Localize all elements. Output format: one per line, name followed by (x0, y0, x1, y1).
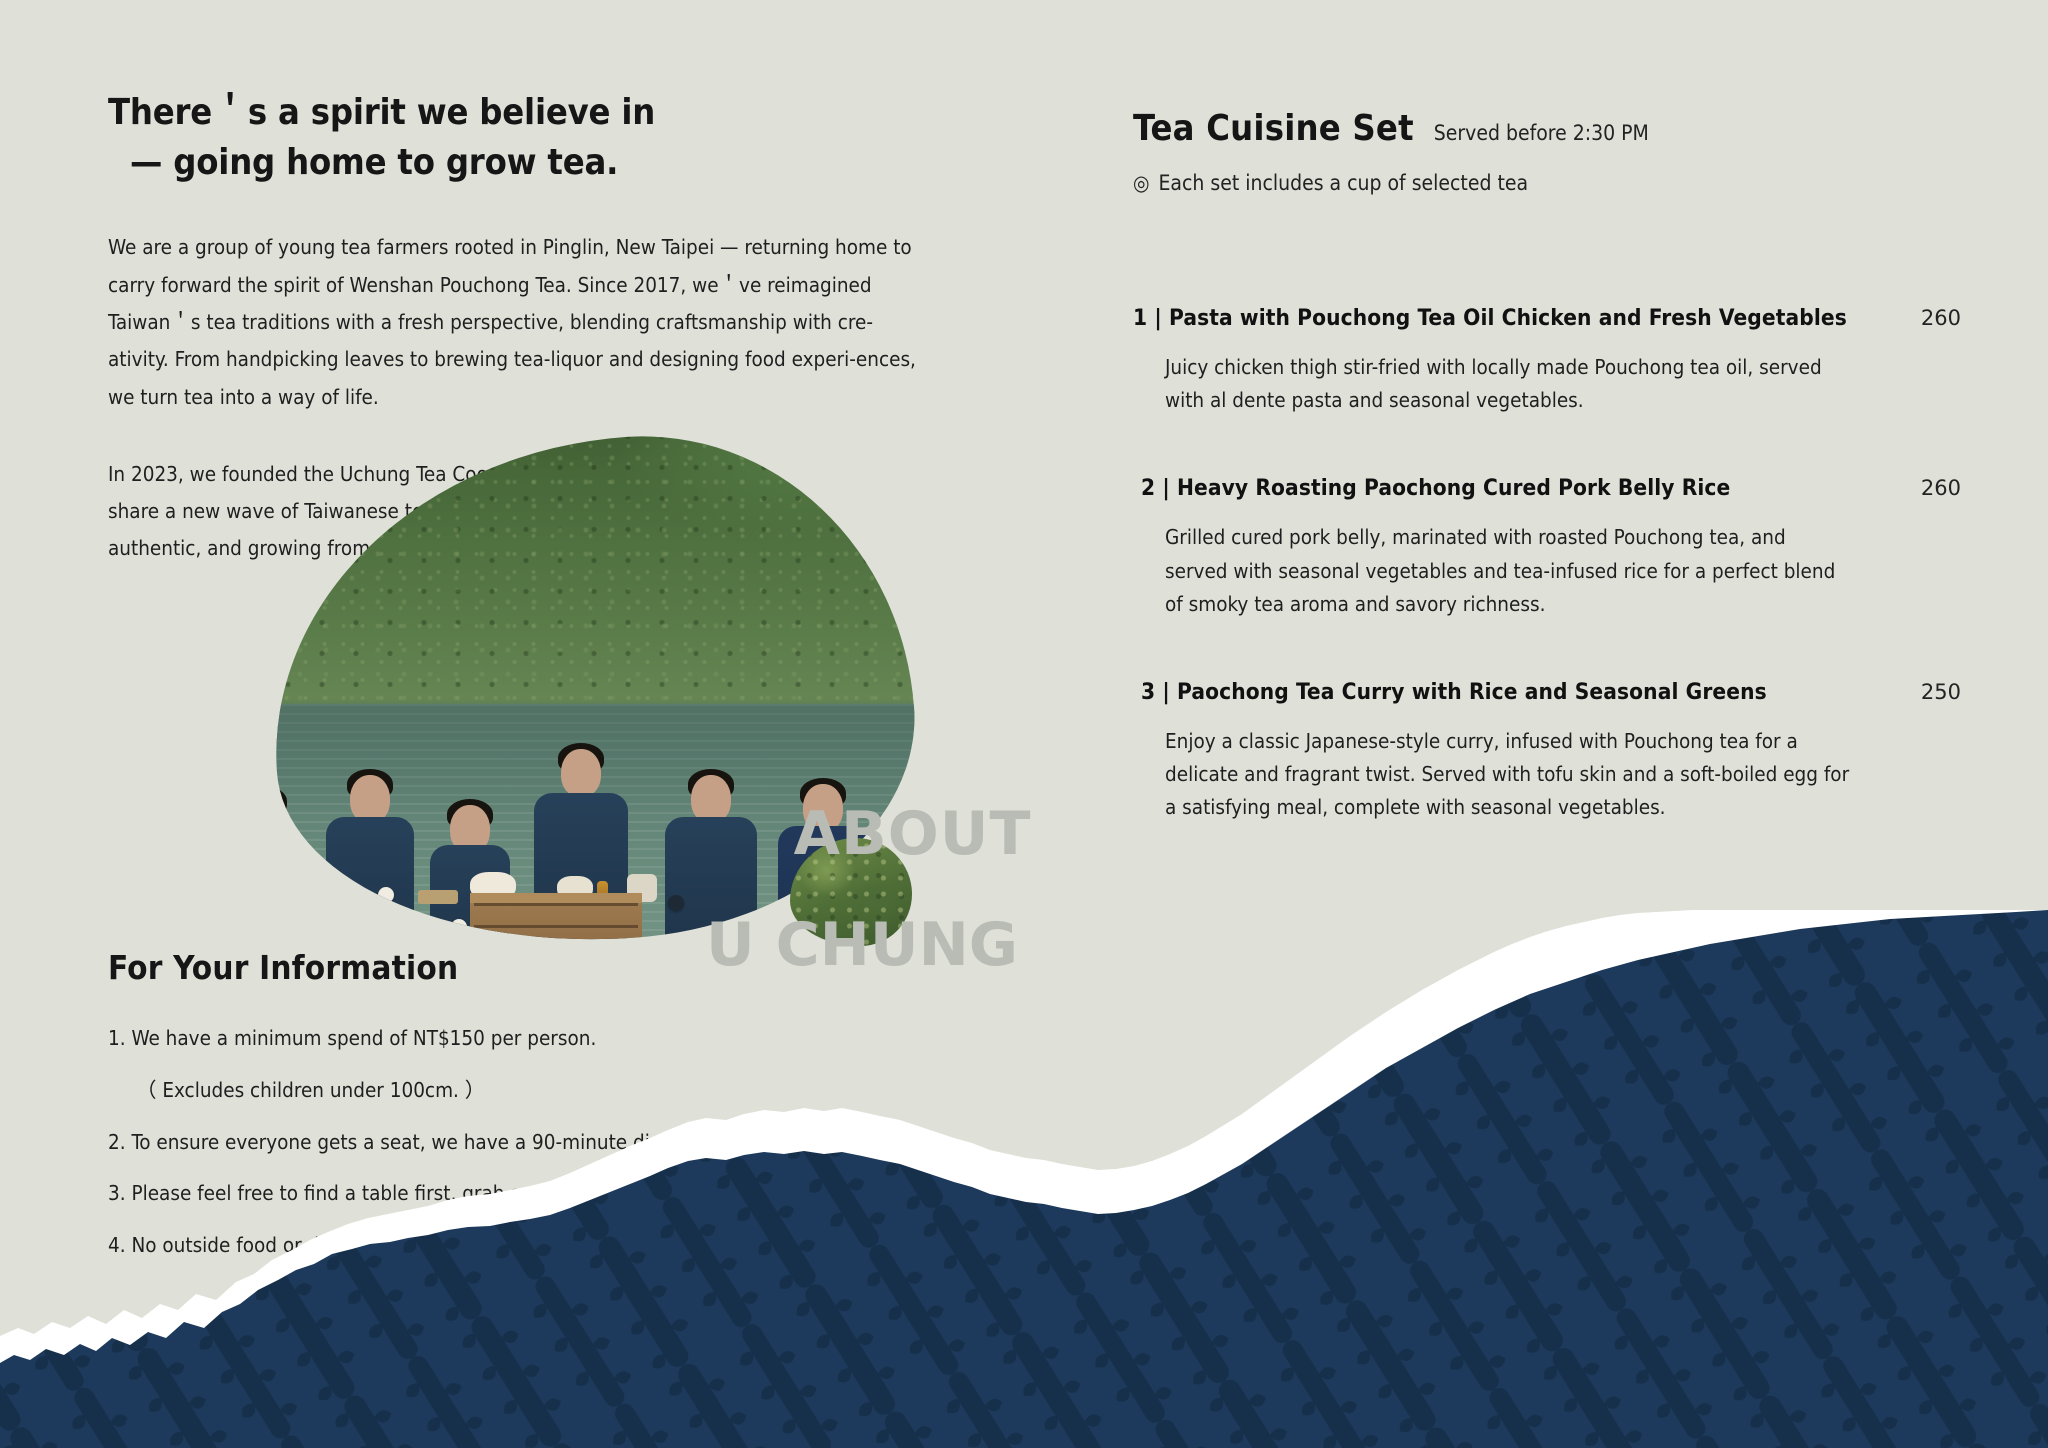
menu-note: ◎ Each set includes a cup of selected te… (1133, 171, 1961, 195)
menu-item: 1 | Pasta with Pouchong Tea Oil Chicken … (1133, 305, 1961, 417)
menu-item: 2 | Heavy Roasting Paochong Cured Pork B… (1133, 475, 1961, 621)
person-2 (322, 769, 418, 962)
menu-item-price: 260 (1875, 476, 1961, 500)
menu-item-description: Enjoy a classic Japanese-style curry, in… (1133, 725, 1853, 825)
menu-item-price: 250 (1875, 680, 1961, 704)
about-headline: There＇s a spirit we believe in — going h… (108, 88, 948, 187)
menu-item-title: Paochong Tea Curry with Rice and Seasona… (1177, 679, 1767, 705)
menu-item-number: 1 (1133, 305, 1147, 331)
information-list: 1. We have a minimum spend of NT$150 per… (108, 1023, 1008, 1262)
menu-item-number: 2 (1141, 475, 1155, 501)
menu-section: Tea Cuisine Set Served before 2:30 PM ◎ … (1133, 108, 1961, 883)
menu-item-name: 1 | Pasta with Pouchong Tea Oil Chicken … (1133, 305, 1875, 331)
person-5 (662, 769, 760, 962)
menu-item-name: 2 | Heavy Roasting Paochong Cured Pork B… (1141, 475, 1875, 501)
menu-item-separator: | (1162, 475, 1170, 501)
info-item: 1. We have a minimum spend of NT$150 per… (108, 1023, 1008, 1055)
info-item: （ Excludes children under 100cm. ） (108, 1075, 1008, 1107)
person-1 (255, 786, 309, 961)
menu-title: Tea Cuisine Set (1133, 108, 1414, 149)
menu-item-heading: 2 | Heavy Roasting Paochong Cured Pork B… (1133, 475, 1961, 501)
menu-item: 3 | Paochong Tea Curry with Rice and Sea… (1133, 679, 1961, 825)
menu-items: 1 | Pasta with Pouchong Tea Oil Chicken … (1133, 305, 1961, 825)
info-item: 4. No outside food or drinks, please! (108, 1230, 1008, 1262)
menu-page: There＇s a spirit we believe in — going h… (0, 0, 2048, 1448)
foliage-blob-accent (790, 838, 912, 946)
double-circle-icon: ◎ (1133, 173, 1150, 194)
headline-line-2: — going home to grow tea. (108, 138, 948, 188)
menu-item-name: 3 | Paochong Tea Curry with Rice and Sea… (1141, 679, 1875, 705)
information-title: For Your Information (108, 948, 1008, 987)
information-section: For Your Information 1. We have a minimu… (108, 948, 1008, 1282)
menu-item-number: 3 (1141, 679, 1155, 705)
menu-item-description: Grilled cured pork belly, marinated with… (1133, 521, 1853, 621)
menu-header: Tea Cuisine Set Served before 2:30 PM (1133, 108, 1961, 149)
menu-item-separator: | (1162, 679, 1170, 705)
menu-item-heading: 3 | Paochong Tea Curry with Rice and Sea… (1133, 679, 1961, 705)
menu-item-separator: | (1154, 305, 1162, 331)
menu-item-title: Heavy Roasting Paochong Cured Pork Belly… (1177, 475, 1730, 501)
info-item: 2. To ensure everyone gets a seat, we ha… (108, 1127, 1008, 1159)
about-paragraph-1: We are a group of young tea farmers root… (108, 229, 920, 415)
menu-item-description: Juicy chicken thigh stir-fried with loca… (1133, 351, 1853, 417)
menu-item-price: 260 (1875, 306, 1961, 330)
info-item: 3. Please feel free to find a table firs… (108, 1178, 1008, 1210)
menu-note-text: Each set includes a cup of selected tea (1159, 171, 1529, 195)
tea-tray (418, 890, 458, 904)
menu-item-title: Pasta with Pouchong Tea Oil Chicken and … (1169, 305, 1847, 331)
headline-line-1: There＇s a spirit we believe in (108, 92, 655, 133)
menu-item-heading: 1 | Pasta with Pouchong Tea Oil Chicken … (1133, 305, 1961, 331)
menu-subtitle: Served before 2:30 PM (1434, 121, 1649, 145)
